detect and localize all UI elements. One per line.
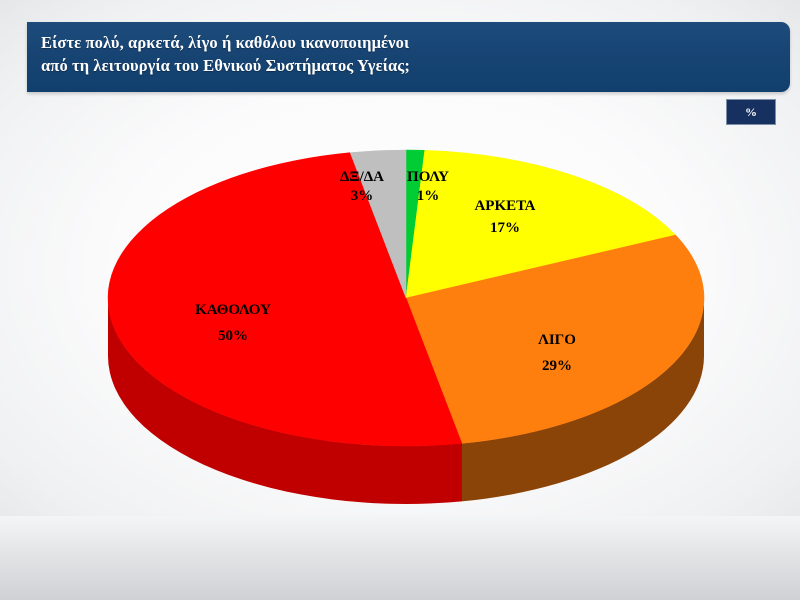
pie-slice-ΛΙΓΟ: [406, 235, 704, 443]
pie-slice-edge-ΚΑΘΟΛΟΥ: [406, 298, 462, 501]
pie-3d-sides: [108, 298, 704, 504]
pie-slice-labels: ΠΟΛΥ1%ΑΡΚΕΤΑ17%ΛΙΓΟ29%ΚΑΘΟΛΟΥ50%ΔΞ/ΔΑ3%: [195, 169, 576, 374]
pie-label-name-ΔΞ/ΔΑ: ΔΞ/ΔΑ: [340, 169, 384, 185]
percent-unit-badge: %: [726, 99, 776, 125]
pie-label-value-ΑΡΚΕΤΑ: 17%: [490, 220, 520, 236]
pie-label-name-ΠΟΛΥ: ΠΟΛΥ: [407, 169, 449, 185]
pie-slice-side-ΚΑΘΟΛΟΥ: [108, 298, 462, 504]
percent-unit-label: %: [745, 105, 757, 120]
footer-bar: NEWS alco The pulse of society: [0, 516, 800, 600]
pie-label-name-ΛΙΓΟ: ΛΙΓΟ: [538, 332, 576, 348]
slide-root: Είστε πολύ, αρκετά, λίγο ή καθόλου ικανο…: [0, 0, 800, 600]
pie-slice-ΠΟΛΥ: [406, 150, 425, 298]
pie-slice-side-ΛΙΓΟ: [462, 298, 704, 501]
pie-label-value-ΠΟΛΥ: 1%: [417, 188, 440, 204]
pie-label-value-ΔΞ/ΔΑ: 3%: [351, 188, 374, 204]
pie-slice-ΑΡΚΕΤΑ: [406, 150, 676, 298]
pie-slices: [108, 150, 704, 446]
pie-label-name-ΑΡΚΕΤΑ: ΑΡΚΕΤΑ: [474, 198, 535, 214]
pie-slice-ΔΞ/ΔΑ: [350, 150, 406, 298]
pie-label-name-ΚΑΘΟΛΟΥ: ΚΑΘΟΛΟΥ: [195, 302, 271, 318]
pie-slice-edge-ΛΙΓΟ: [406, 298, 462, 501]
pie-label-value-ΛΙΓΟ: 29%: [542, 358, 572, 374]
pie-slice-ΚΑΘΟΛΟΥ: [108, 153, 462, 446]
pie-label-value-ΚΑΘΟΛΟΥ: 50%: [218, 328, 248, 344]
page-title: Είστε πολύ, αρκετά, λίγο ή καθόλου ικανο…: [41, 31, 790, 77]
title-banner: Είστε πολύ, αρκετά, λίγο ή καθόλου ικανο…: [27, 22, 790, 92]
